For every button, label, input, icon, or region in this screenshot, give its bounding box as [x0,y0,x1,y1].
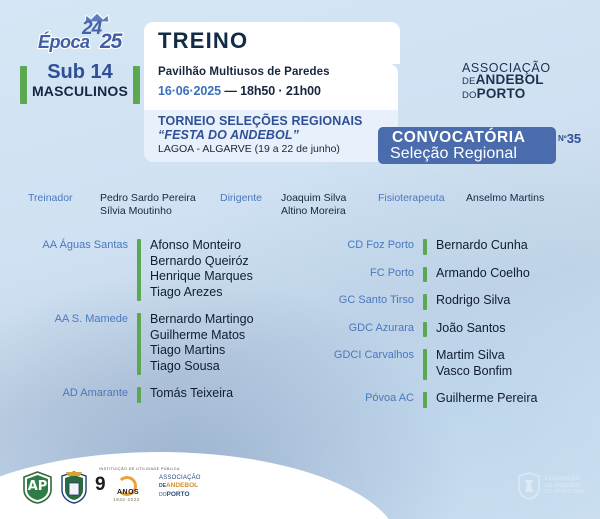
player-name: João Santos [436,321,506,337]
player-name: Tiago Martins [150,343,254,359]
category-title: Sub 14 [20,62,140,83]
club-name: Póvoa AC [296,391,414,404]
staff-role-treinador: Treinador [28,192,73,204]
staff-names-dirigente: Joaquim Silva Altino Moreira [281,192,346,218]
club-accent-bar [423,392,427,408]
club-players: Afonso MonteiroBernardo QueirózHenrique … [150,238,253,300]
convocation-number-value: 35 [567,131,581,146]
event-datetime: 16·06·2025 — 18h50 · 21h00 [158,84,321,98]
category-subtitle: MASCULINOS [20,83,140,99]
club-row: Póvoa ACGuilherme Pereira [296,391,586,408]
anniversary-logo: INSTITUIÇÃO DE UTILIDADE PÚBLICA 9 ANOS … [95,470,150,504]
staff-names-treinador: Pedro Sardo Pereira Sílvia Moutinho [100,192,196,218]
footer-assoc-line3: DOPORTO [159,491,201,500]
club-name: FC Porto [296,266,414,279]
player-name: Bernardo Martingo [150,312,254,328]
convocation-number-prefix: Nº [558,134,567,143]
player-name: Tiago Sousa [150,359,254,375]
club-accent-bar [137,387,141,403]
player-name: Guilherme Pereira [436,391,537,407]
staff-names-fisioterapeuta: Anselmo Martins [466,192,544,205]
club-name: AA Águas Santas [18,238,128,251]
player-name: Tiago Arezes [150,285,253,301]
convocation-number: Nº35 [558,131,581,146]
tournament-nickname: “FESTA DO ANDEBOL” [158,128,299,142]
player-name: Rodrigo Silva [436,293,510,309]
poster-root: 24 Época 25 Sub 14 MASCULINOS TREINO Pav… [0,0,600,519]
clubs-column-right: CD Foz PortoBernardo CunhaFC PortoArmand… [296,238,586,419]
club-players: Bernardo MartingoGuilherme MatosTiago Ma… [150,312,254,374]
club-players: Rodrigo Silva [436,293,510,309]
club-name: GDCI Carvalhos [296,348,414,361]
event-venue: Pavilhão Multiusos de Paredes [158,66,330,78]
event-date: 16·06·2025 [158,84,221,98]
association-logo: ASSOCIAÇÃO DEANDEBOL DOPORTO [462,62,592,102]
season-logo: 24 Época 25 [38,12,142,60]
federation-line1: FEDERAÇÃO [545,476,585,483]
anniversary-top-text: INSTITUIÇÃO DE UTILIDADE PÚBLICA [99,467,180,471]
player-name: Vasco Bonfim [436,364,512,380]
federation-shield-icon [518,472,540,500]
federation-watermark: FEDERAÇÃO DE ANDEBOL DE PORTUGAL [518,472,585,500]
footer-assoc-line2-prefix: DE [159,483,166,489]
anniversary-years: 1932-2022 [113,497,140,502]
footer-assoc-line1: ASSOCIAÇÃO [159,475,201,483]
association-line3-main: PORTO [477,86,526,101]
club-players: Tomás Teixeira [150,386,233,402]
club-accent-bar [423,239,427,255]
anniversary-anos: ANOS [117,489,139,496]
club-name: GDC Azurara [296,321,414,334]
club-players: Armando Coelho [436,266,530,282]
staff-role-dirigente: Dirigente [220,192,262,204]
category-block: Sub 14 MASCULINOS [20,62,140,99]
club-accent-bar [137,313,141,375]
player-name: Bernardo Queiróz [150,254,253,270]
club-players: Bernardo Cunha [436,238,528,254]
event-dash: — [221,84,240,98]
fcp-crest-icon [60,470,88,504]
anniversary-number: 9 [95,474,105,496]
club-name: AA S. Mamede [18,312,128,325]
footer-assoc-line3-main: PORTO [167,491,190,498]
club-accent-bar [137,239,141,301]
footer-logos: AP INSTITUIÇÃO DE UTILIDADE PÚBLICA 9 AN… [22,470,201,504]
tournament-location: LAGOA - ALGARVE (19 a 22 de junho) [158,143,340,155]
federation-text: FEDERAÇÃO DE ANDEBOL DE PORTUGAL [545,476,585,496]
player-name: Bernardo Cunha [436,238,528,254]
footer-association-text: ASSOCIAÇÃO DEANDEBOL DOPORTO [159,475,201,500]
club-row: AA Águas SantasAfonso MonteiroBernardo Q… [18,238,288,301]
club-name: AD Amarante [18,386,128,399]
player-name: Martim Silva [436,348,512,364]
event-type: TREINO [158,28,248,54]
club-row: AD AmaranteTomás Teixeira [18,386,288,403]
staff-row: Treinador Pedro Sardo Pereira Sílvia Mou… [0,188,600,220]
club-players: Guilherme Pereira [436,391,537,407]
player-name: Armando Coelho [436,266,530,282]
association-line3: DOPORTO [462,88,592,102]
association-line2-main: ANDEBOL [476,72,544,87]
season-word: Época [38,32,90,53]
club-row: GC Santo TirsoRodrigo Silva [296,293,586,310]
convocation-subtitle: Seleção Regional [390,145,517,163]
footer-assoc-line3-prefix: DO [159,492,167,498]
club-row: GDC AzuraraJoão Santos [296,321,586,338]
player-name: Tomás Teixeira [150,386,233,402]
event-times: 18h50 · 21h00 [240,84,321,98]
club-row: GDCI CarvalhosMartim SilvaVasco Bonfim [296,348,586,380]
tournament-name: TORNEIO SELEÇÕES REGIONAIS [158,114,363,128]
staff-role-fisioterapeuta: Fisioterapeuta [378,192,445,204]
club-accent-bar [423,322,427,338]
bracket-right [133,66,140,104]
association-line2-prefix: DE [462,76,476,87]
club-row: FC PortoArmando Coelho [296,266,586,283]
clubs-column-left: AA Águas SantasAfonso MonteiroBernardo Q… [18,238,288,414]
club-row: CD Foz PortoBernardo Cunha [296,238,586,255]
club-players: João Santos [436,321,506,337]
federation-line3: DE PORTUGAL [545,489,585,496]
footer-assoc-line2-main: ANDEBOL [166,482,198,489]
club-accent-bar [423,267,427,283]
club-name: GC Santo Tirso [296,293,414,306]
club-accent-bar [423,349,427,380]
footer-assoc-line2: DEANDEBOL [159,482,201,491]
player-name: Henrique Marques [150,269,253,285]
svg-text:AP: AP [28,479,48,494]
club-players: Martim SilvaVasco Bonfim [436,348,512,379]
aap-crest-icon: AP [22,471,53,504]
player-name: Afonso Monteiro [150,238,253,254]
association-line3-prefix: DO [462,90,477,101]
club-name: CD Foz Porto [296,238,414,251]
bracket-left [20,66,27,104]
club-row: AA S. MamedeBernardo MartingoGuilherme M… [18,312,288,375]
club-accent-bar [423,294,427,310]
player-name: Guilherme Matos [150,328,254,344]
season-year-end: 25 [100,30,121,54]
